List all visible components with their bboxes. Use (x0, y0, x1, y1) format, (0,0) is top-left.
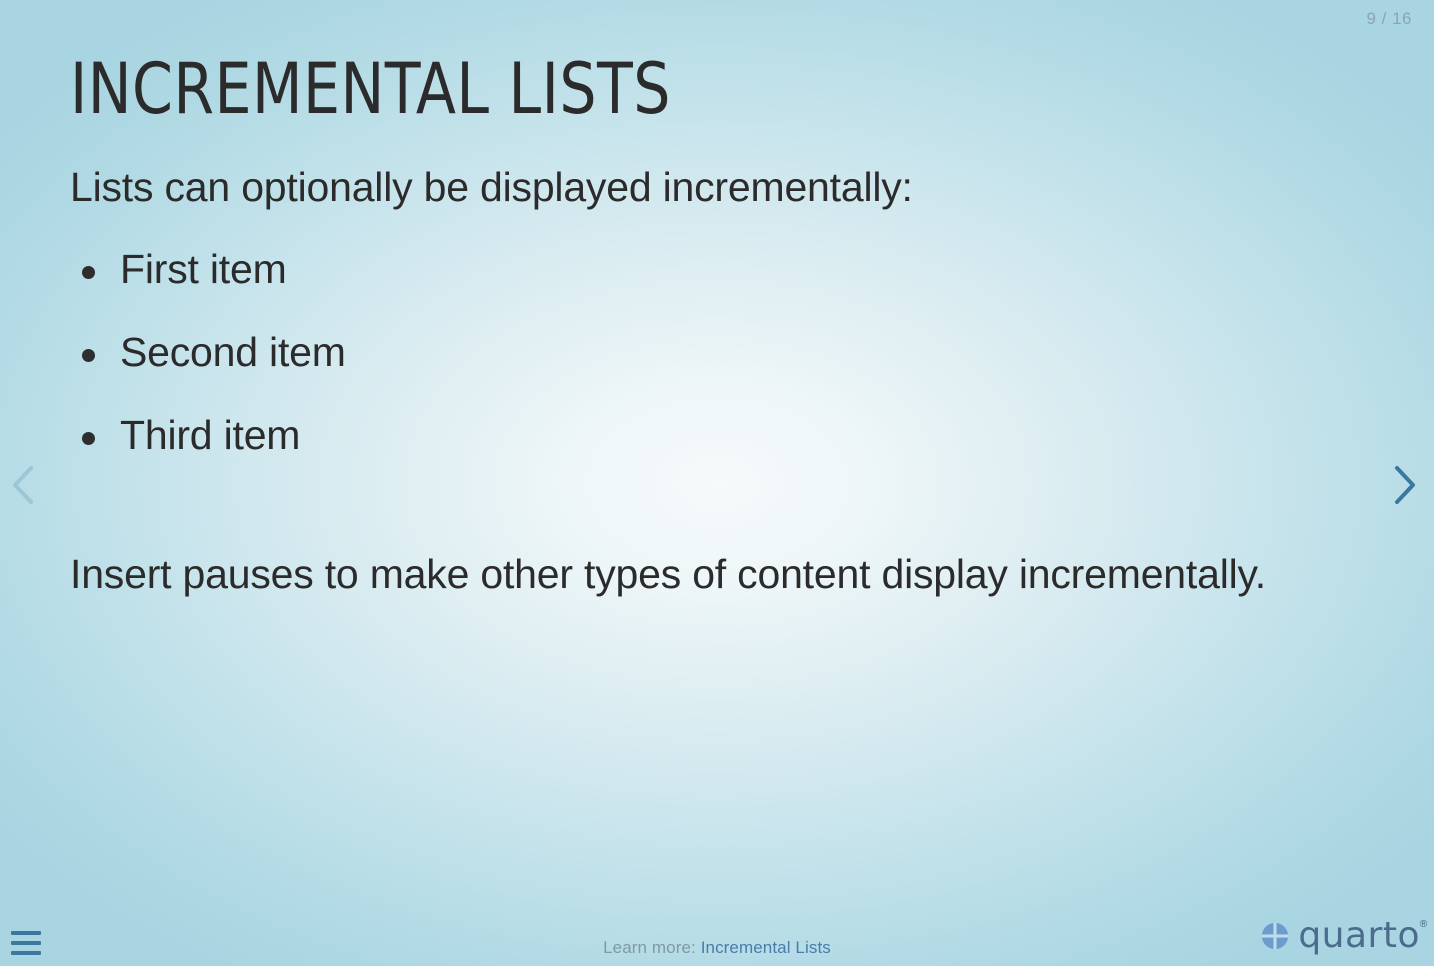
body-paragraph: Insert pauses to make other types of con… (70, 542, 1285, 608)
page-title: Incremental Lists (70, 54, 1270, 124)
bullet-list: First item Second item Third item (70, 249, 1360, 456)
bullet-dot-icon (82, 349, 95, 362)
quarto-circle-icon (1261, 922, 1289, 950)
previous-slide-button[interactable] (0, 458, 46, 512)
slide-subtitle: Lists can optionally be displayed increm… (70, 162, 1360, 213)
slide-canvas: 9 / 16 Incremental Lists Lists can optio… (0, 0, 1434, 966)
bullet-dot-icon (82, 432, 95, 445)
list-item-label: First item (120, 246, 287, 292)
quarto-wordmark-text: quarto (1298, 915, 1420, 956)
quarto-wordmark: quarto ® (1298, 918, 1420, 954)
list-item-label: Second item (120, 329, 346, 375)
bullet-dot-icon (82, 266, 95, 279)
list-item: First item (70, 249, 1360, 290)
chevron-left-icon (10, 464, 36, 506)
footer-note: Learn more: Incremental Lists (0, 938, 1434, 958)
learn-more-link[interactable]: Incremental Lists (701, 938, 831, 957)
list-item-label: Third item (120, 412, 300, 458)
next-slide-button[interactable] (1382, 458, 1428, 512)
list-item: Third item (70, 415, 1360, 456)
page-indicator: 9 / 16 (1366, 9, 1412, 29)
learn-more-label: Learn more: (603, 938, 696, 957)
quarto-logo[interactable]: quarto ® (1261, 918, 1420, 954)
list-item: Second item (70, 332, 1360, 373)
slide-content: Incremental Lists Lists can optionally b… (70, 54, 1360, 608)
hamburger-menu-icon-bar (11, 931, 41, 935)
registered-mark-icon: ® (1419, 920, 1430, 930)
chevron-right-icon (1392, 464, 1418, 506)
